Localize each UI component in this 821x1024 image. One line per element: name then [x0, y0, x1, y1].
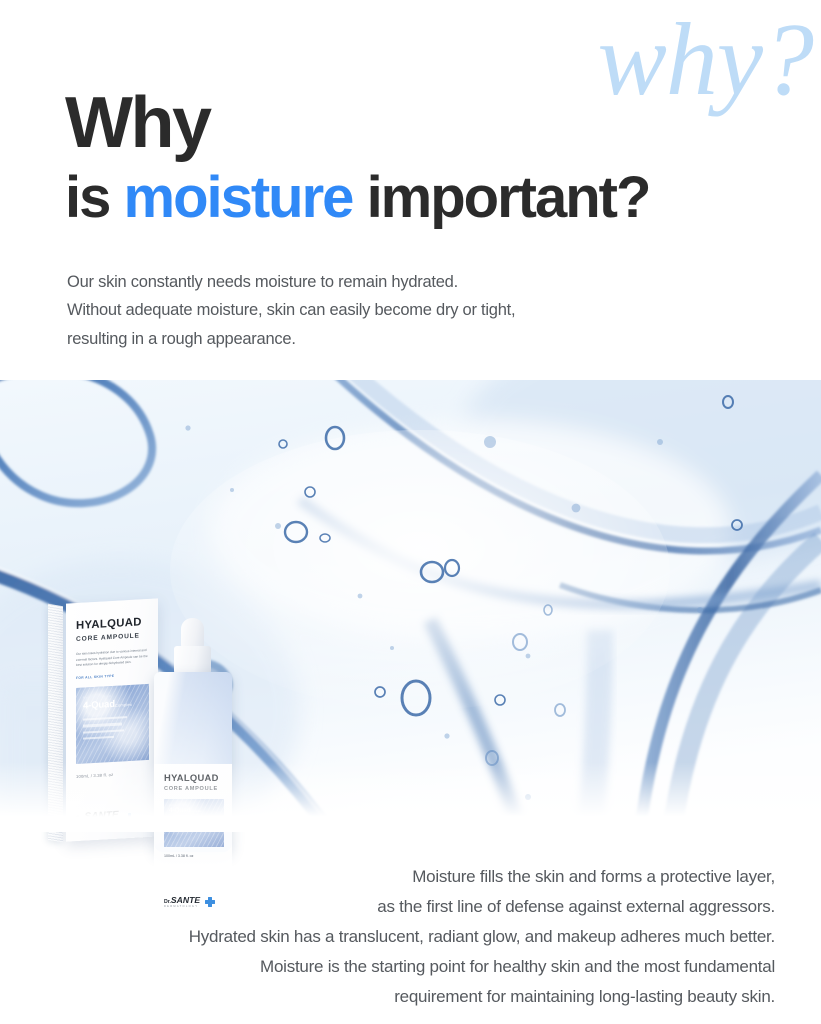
intro-line-2: Without adequate moisture, skin can easi… — [67, 296, 727, 324]
outro-line-1: Moisture fills the skin and forms a prot… — [0, 862, 775, 892]
box-product-name: HYALQUAD — [76, 616, 149, 632]
bottle-medical-cross-icon — [205, 897, 215, 907]
bottle-brand-sub: DERMATOLOGY — [164, 905, 200, 908]
headline-prefix: is — [65, 165, 124, 230]
outro-line-5: requirement for maintaining long-lasting… — [0, 982, 775, 1012]
dropper-collar — [174, 646, 211, 674]
dropper-cap-icon — [181, 618, 204, 648]
box-panel-textlines — [83, 715, 142, 739]
promo-page: why? Why is moisture important? Our skin… — [0, 0, 821, 1024]
intro-paragraph: Our skin constantly needs moisture to re… — [67, 268, 727, 353]
bottle-volume: 100mL / 3.38 fl. oz — [164, 854, 224, 858]
hero-bottom-fade — [0, 762, 821, 832]
box-panel-title-text: 4-Quad — [83, 699, 115, 712]
box-panel-title: 4-QuadComplex — [83, 697, 142, 711]
headline-line-1: Why — [65, 88, 805, 159]
bottle-brand-name: Dr.SANTE — [164, 895, 200, 905]
headline-suffix: important? — [352, 165, 649, 230]
outro-line-3: Hydrated skin has a translucent, radiant… — [0, 922, 775, 952]
box-tagline: FOR ALL SKIN TYPE — [76, 672, 149, 680]
outro-line-2: as the first line of defense against ext… — [0, 892, 775, 922]
intro-line-3: resulting in a rough appearance. — [67, 325, 727, 353]
headline-line-2: is moisture important? — [65, 169, 805, 227]
headline-accent-word: moisture — [124, 165, 353, 230]
box-description: Our skin loses hydration due to various … — [76, 648, 149, 669]
box-quad-panel: Hyaluronic Acid 4-QuadComplex — [76, 684, 149, 764]
box-panel-title-suffix: Complex — [115, 702, 132, 708]
outro-paragraph: Moisture fills the skin and forms a prot… — [0, 862, 775, 1012]
bottle-brand-lockup: Dr.SANTE DERMATOLOGY — [164, 895, 215, 908]
box-product-subtitle: CORE AMPOULE — [76, 632, 149, 643]
outro-line-4: Moisture is the starting point for healt… — [0, 952, 775, 982]
headline-block: Why is moisture important? — [65, 88, 805, 227]
intro-line-1: Our skin constantly needs moisture to re… — [67, 268, 727, 296]
bottle-brand-word: SANTE — [171, 895, 200, 905]
